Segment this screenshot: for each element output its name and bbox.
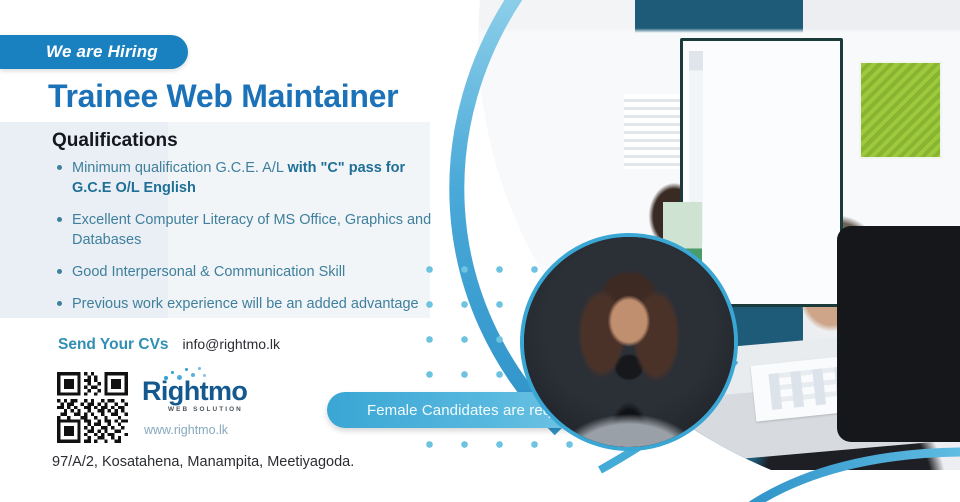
bullet-text-normal: Minimum qualification G.C.E. A/L [72, 160, 287, 176]
list-item: Previous work experience will be an adde… [52, 294, 432, 314]
job-title: Trainee Web Maintainer [48, 78, 398, 115]
job-ad-poster: We are Hiring Trainee Web Maintainer Qua… [0, 0, 960, 502]
send-cv-label: Send Your CVs [58, 336, 169, 354]
bullet-text-normal: Previous work experience will be an adde… [72, 296, 419, 312]
photo-wall-art [859, 61, 941, 159]
qr-code-svg [52, 372, 133, 443]
qualifications-heading: Qualifications [52, 130, 178, 152]
logo-tagline: WEB SOLUTION [142, 406, 252, 413]
send-cv-row: Send Your CVs info@rightmo.lk [58, 336, 280, 354]
logo-wordmark: Rightmo [142, 378, 252, 405]
hiring-badge: We are Hiring [0, 35, 188, 69]
company-address: 97/A/2, Kosatahena, Manampita, Meetiyago… [52, 454, 354, 470]
list-item: Excellent Computer Literacy of MS Office… [52, 210, 432, 250]
bullet-text-normal: Good Interpersonal & Communication Skill [72, 264, 345, 280]
qualifications-list: Minimum qualification G.C.E. A/L with "C… [52, 158, 432, 326]
company-logo: Rightmo WEB SOLUTION [142, 378, 252, 413]
website-url[interactable]: www.rightmo.lk [144, 423, 228, 437]
photo-chair [837, 226, 960, 442]
contact-email[interactable]: info@rightmo.lk [183, 336, 280, 352]
list-item: Minimum qualification G.C.E. A/L with "C… [52, 158, 432, 198]
portrait-image [524, 237, 734, 447]
hiring-badge-label: We are Hiring [46, 42, 158, 62]
portrait-avatar [520, 233, 738, 451]
list-item: Good Interpersonal & Communication Skill [52, 262, 432, 282]
bullet-text-normal: Excellent Computer Literacy of MS Office… [72, 212, 431, 248]
qr-code-icon[interactable] [52, 372, 133, 443]
